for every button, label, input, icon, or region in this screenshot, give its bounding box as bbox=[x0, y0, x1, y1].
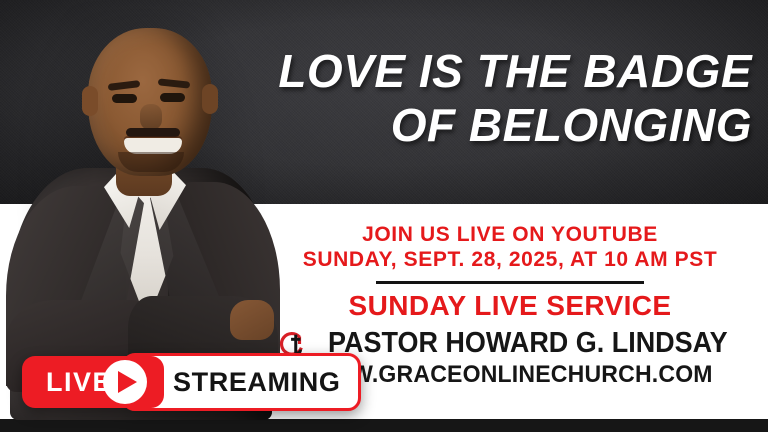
service-datetime-text: SUNDAY, SEPT. 28, 2025, AT 10 AM PST bbox=[262, 247, 758, 272]
headline-line-1: LOVE IS THE BADGE bbox=[228, 44, 752, 98]
page-title: LOVE IS THE BADGE OF BELONGING bbox=[228, 44, 752, 152]
ear-right bbox=[202, 84, 218, 114]
headline-line-2: OF BELONGING bbox=[228, 98, 752, 152]
pastor-name: PASTOR HOWARD G. LINDSAY bbox=[328, 328, 728, 359]
eye-right bbox=[160, 93, 185, 102]
mustache bbox=[126, 128, 180, 137]
nose bbox=[140, 104, 162, 130]
chin-shadow bbox=[118, 152, 184, 172]
ear-left bbox=[82, 86, 98, 116]
streaming-label: STREAMING bbox=[173, 367, 340, 398]
play-triangle bbox=[118, 371, 137, 393]
service-title: SUNDAY LIVE SERVICE bbox=[262, 290, 758, 322]
live-stream-announcement-banner: LOVE IS THE BADGE OF BELONGING JOIN US L… bbox=[0, 0, 768, 432]
play-icon[interactable] bbox=[103, 360, 147, 404]
live-streaming-badge[interactable]: LIVE STREAMING bbox=[22, 356, 361, 408]
eye-left bbox=[112, 94, 137, 103]
divider-rule bbox=[376, 281, 644, 284]
join-invitation-text: JOIN US LIVE ON YOUTUBE bbox=[262, 222, 758, 247]
